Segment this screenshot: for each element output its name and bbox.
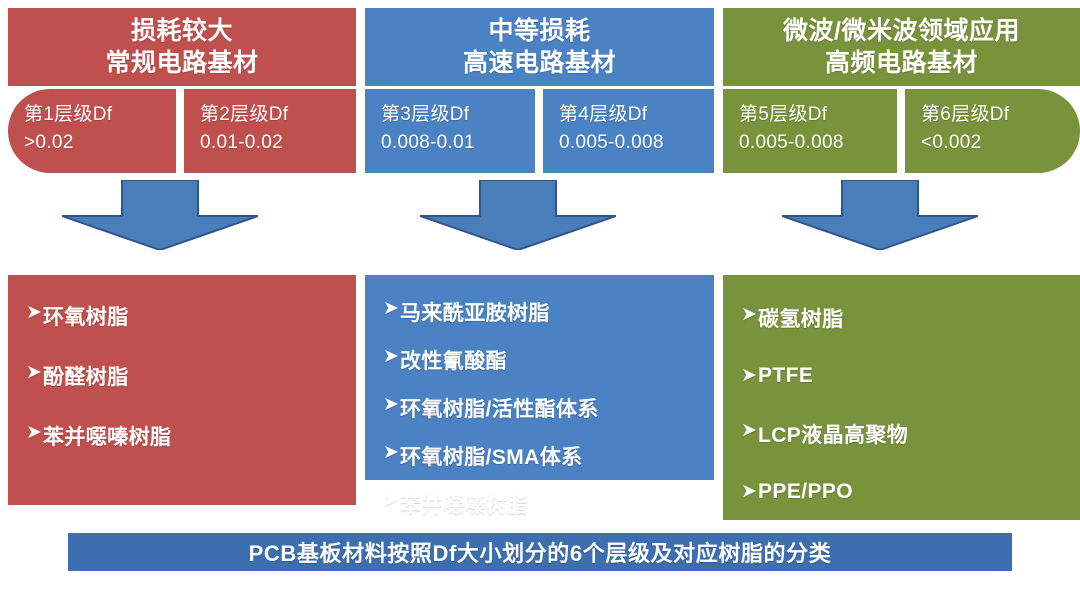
tier-value: >0.02 — [24, 129, 176, 157]
resin-item: ➤ LCP液晶高聚物 — [741, 419, 1060, 449]
resin-box-high-loss: ➤ 环氧树脂 ➤ 酚醛树脂 ➤ 苯并噁嗪树脂 — [8, 275, 356, 505]
tier-value: <0.002 — [921, 129, 1080, 157]
resin-label: PTFE — [758, 364, 813, 388]
tier-cell-4[interactable]: 第4层级Df 0.005-0.008 — [543, 89, 714, 173]
resin-item: ➤ 环氧树脂/SMA体系 — [383, 441, 694, 471]
down-arrow-icon — [782, 180, 978, 250]
bullet-arrow-icon: ➤ — [383, 441, 400, 464]
resin-item: ➤ 环氧树脂 — [26, 301, 336, 331]
resin-label: 苯并噁嗪树脂 — [43, 421, 171, 451]
tier-cell-5[interactable]: 第5层级Df 0.005-0.008 — [723, 89, 897, 173]
resin-item: ➤ 马来酰亚胺树脂 — [383, 297, 694, 327]
group-header-line-1: 损耗较大 — [131, 15, 233, 47]
resin-box-microwave: ➤ 碳氢树脂 ➤ PTFE ➤ LCP液晶高聚物 ➤ PPE/PPO — [723, 275, 1080, 520]
tier-value: 0.005-0.008 — [559, 129, 714, 157]
down-arrow-medium-loss — [420, 180, 616, 250]
resin-item: ➤ 环氧树脂/活性酯体系 — [383, 393, 694, 423]
bullet-arrow-icon: ➤ — [741, 419, 758, 442]
tier-name: 第6层级Df — [921, 101, 1080, 129]
tier-value: 0.005-0.008 — [739, 129, 897, 157]
group-header-line-2: 高速电路基材 — [463, 47, 616, 79]
bullet-arrow-icon: ➤ — [26, 421, 43, 444]
down-arrow-icon — [62, 180, 258, 250]
resin-label: 环氧树脂/SMA体系 — [400, 441, 583, 471]
caption-text: PCB基板材料按照Df大小划分的6个层级及对应树脂的分类 — [249, 536, 832, 568]
resin-label: 苯并噁嗪树脂 — [400, 489, 528, 519]
resin-box-medium-loss: ➤ 马来酰亚胺树脂 ➤ 改性氰酸酯 ➤ 环氧树脂/活性酯体系 ➤ 环氧树脂/SM… — [365, 275, 714, 480]
resin-label: 酚醛树脂 — [43, 361, 129, 391]
resin-label: 碳氢树脂 — [758, 303, 844, 333]
tier-divider — [535, 89, 543, 173]
tier-divider — [176, 89, 184, 173]
tier-cell-1[interactable]: 第1层级Df >0.02 — [8, 89, 176, 173]
bullet-arrow-icon: ➤ — [741, 303, 758, 326]
caption-banner: PCB基板材料按照Df大小划分的6个层级及对应树脂的分类 — [68, 533, 1012, 571]
resin-item: ➤ 碳氢树脂 — [741, 303, 1060, 333]
bullet-arrow-icon: ➤ — [26, 361, 43, 384]
tier-cell-3[interactable]: 第3层级Df 0.008-0.01 — [365, 89, 535, 173]
resin-label: 环氧树脂/活性酯体系 — [400, 393, 599, 423]
bullet-arrow-icon: ➤ — [741, 480, 758, 503]
group-header-microwave: 微波/微米波领域应用 高频电路基材 — [723, 8, 1080, 86]
tier-value: 0.01-0.02 — [200, 129, 356, 157]
resin-label: 环氧树脂 — [43, 301, 129, 331]
resin-item: ➤ 苯并噁嗪树脂 — [383, 489, 694, 519]
group-header-medium-loss: 中等损耗 高速电路基材 — [365, 8, 714, 86]
tier-row-microwave: 第5层级Df 0.005-0.008 第6层级Df <0.002 — [723, 89, 1080, 173]
resin-label: 改性氰酸酯 — [400, 345, 507, 375]
tier-value: 0.008-0.01 — [381, 129, 535, 157]
tier-cell-2[interactable]: 第2层级Df 0.01-0.02 — [184, 89, 356, 173]
bullet-arrow-icon: ➤ — [26, 301, 43, 324]
tier-name: 第3层级Df — [381, 101, 535, 129]
diagram-canvas: 损耗较大 常规电路基材 第1层级Df >0.02 第2层级Df 0.01-0.0… — [0, 0, 1080, 590]
group-header-line-2: 常规电路基材 — [105, 47, 258, 79]
resin-item: ➤ 苯并噁嗪树脂 — [26, 421, 336, 451]
group-header-line-1: 微波/微米波领域应用 — [783, 15, 1020, 47]
resin-item: ➤ 酚醛树脂 — [26, 361, 336, 391]
tier-row-high-loss: 第1层级Df >0.02 第2层级Df 0.01-0.02 — [8, 89, 356, 173]
resin-item: ➤ PTFE — [741, 364, 1060, 388]
down-arrow-microwave — [782, 180, 978, 250]
down-arrow-high-loss — [62, 180, 258, 250]
resin-label: PPE/PPO — [758, 480, 853, 504]
bullet-arrow-icon: ➤ — [383, 297, 400, 320]
tier-row-medium-loss: 第3层级Df 0.008-0.01 第4层级Df 0.005-0.008 — [365, 89, 714, 173]
resin-label: LCP液晶高聚物 — [758, 419, 908, 449]
bullet-arrow-icon: ➤ — [383, 393, 400, 416]
resin-item: ➤ PPE/PPO — [741, 480, 1060, 504]
group-header-line-1: 中等损耗 — [488, 15, 590, 47]
tier-name: 第5层级Df — [739, 101, 897, 129]
resin-label: 马来酰亚胺树脂 — [400, 297, 550, 327]
bullet-arrow-icon: ➤ — [741, 364, 758, 387]
tier-cell-6[interactable]: 第6层级Df <0.002 — [905, 89, 1080, 173]
tier-name: 第4层级Df — [559, 101, 714, 129]
bullet-arrow-icon: ➤ — [383, 489, 400, 512]
group-header-high-loss: 损耗较大 常规电路基材 — [8, 8, 356, 86]
bullet-arrow-icon: ➤ — [383, 345, 400, 368]
down-arrow-icon — [420, 180, 616, 250]
resin-item: ➤ 改性氰酸酯 — [383, 345, 694, 375]
tier-name: 第1层级Df — [24, 101, 176, 129]
group-header-line-2: 高频电路基材 — [825, 47, 978, 79]
tier-name: 第2层级Df — [200, 101, 356, 129]
tier-divider — [897, 89, 905, 173]
